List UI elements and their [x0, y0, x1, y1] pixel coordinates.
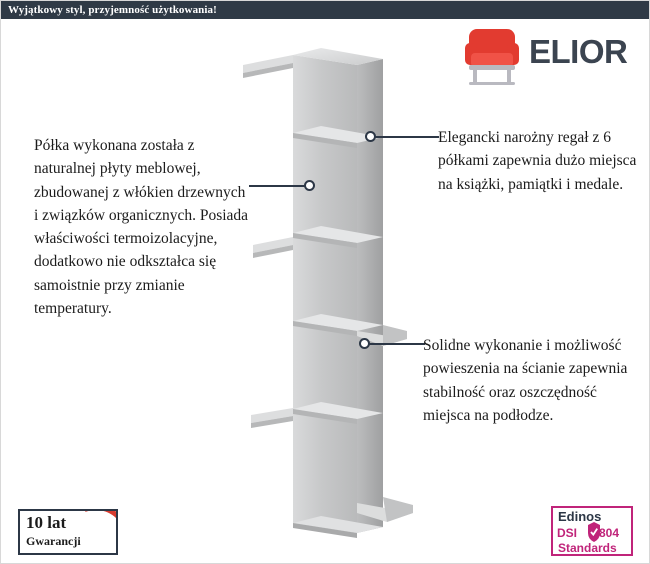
- guarantee-badge: 10 lat Gwarancji: [18, 509, 118, 555]
- headline-banner: Wyjątkowy styl, przyjemność użytkowania!: [1, 1, 650, 19]
- brand-name: ELIOR: [529, 33, 627, 71]
- leader-line-right-top: [371, 136, 439, 138]
- certificate-dsi: DSI: [557, 526, 577, 540]
- callout-material-text: Półka wykonana została z naturalnej płyt…: [34, 134, 249, 320]
- brand-logo: ELIOR: [441, 25, 631, 87]
- callout-dot-right-top: [365, 131, 376, 142]
- leader-line-left: [249, 185, 309, 187]
- guarantee-years: 10 lat: [26, 513, 66, 533]
- armchair-icon: [463, 25, 521, 87]
- callout-design-text: Elegancki narożny regał z 6 półkami zape…: [438, 126, 638, 196]
- callout-stability-text: Solidne wykonanie i możliwość powieszeni…: [423, 334, 633, 427]
- callout-dot-right-bottom: [359, 338, 370, 349]
- guarantee-label: Gwarancji: [26, 534, 81, 549]
- leader-line-right-bottom: [369, 343, 425, 345]
- certificate-standards: Standards: [558, 541, 617, 555]
- certificate-badge: Edinos DSI 804 Standards: [551, 506, 633, 556]
- product-infographic: Wyjątkowy styl, przyjemność użytkowania!…: [0, 0, 650, 564]
- product-image: [237, 37, 413, 543]
- certificate-number: 804: [599, 526, 619, 540]
- callout-dot-left: [304, 180, 315, 191]
